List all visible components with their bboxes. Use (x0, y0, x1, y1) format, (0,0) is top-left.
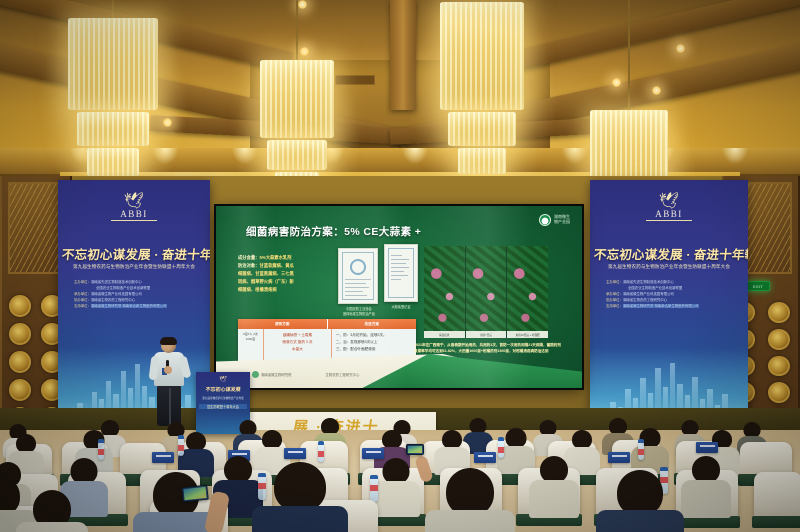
abbi-logo-text: ABBI (111, 209, 157, 219)
leaf-icon (252, 371, 259, 378)
bullet-label: 成分含量： (238, 255, 259, 260)
org-value: 湖南省微生物产业科技园有限公司 (91, 292, 142, 296)
table-header-cell: 改进方案 (328, 319, 417, 329)
presenter-hand (164, 366, 172, 374)
abbi-logo: 🕊 ABBI (111, 196, 157, 221)
slide-bullet-list: 成分含量：5%大蒜素水乳剂 防治对象：甘蓝软腐病、黄瓜 细菌病、甘蓝黑腐病、三七… (238, 254, 330, 294)
banner-organizers: 主办单位：湖南省先进生物制造技术创新中心 全国农业生物制造产业技术创新联盟 承办… (74, 280, 200, 310)
water-bottle (178, 438, 184, 456)
bullet-value: 细菌病、甘蓝黑腐病、三七黑 (238, 271, 294, 276)
chandelier-cord (628, 0, 630, 110)
ceiling-beam-vertical (390, 0, 416, 110)
chandelier-tier (87, 148, 139, 176)
door-medallion-icon (768, 382, 790, 403)
table-name-card (474, 452, 496, 463)
table-name-card (152, 452, 174, 463)
dove-icon: 🕊 (646, 196, 692, 208)
dove-icon: 🕊 (111, 196, 157, 208)
org-value: 湖南省微生物研究院 湖南新合新生物医药有限公司 (623, 304, 699, 308)
org-key: 支持单位： (606, 304, 623, 308)
slide-footer-logos: 湖南省微生物研究院 生物农药工程研究中心 (252, 371, 359, 378)
person-head (446, 468, 494, 516)
chandelier-tier (448, 112, 516, 146)
podium-highlight: 暨生防联盟十周年大会 (199, 404, 247, 409)
person-torso (681, 480, 731, 518)
chandelier-tier (260, 60, 334, 138)
slide-title: 细菌病害防治方案：5% CE大蒜素 + (246, 224, 421, 239)
phone-screen (408, 446, 422, 453)
smartphone-recording[interactable] (181, 485, 208, 503)
chandelier-cord (296, 0, 298, 60)
water-bottle (498, 440, 504, 458)
banner-subline: 第九届生物农药与生物防治产业年会暨生防联盟十周年大会 (64, 264, 204, 270)
chandelier-tier (458, 148, 506, 174)
org-value: 全国农业生物制造产业技术创新联盟 (628, 286, 682, 290)
ceiling-spotlight (163, 118, 172, 127)
downlight (722, 148, 748, 164)
podium-subline: 第九届生物农药与生物防治产业年会 (199, 396, 247, 400)
chandelier (68, 18, 158, 200)
slide-content: 湖南微生 物产业园 细菌病害防治方案：5% CE大蒜素 + 成分含量：5%大蒜素… (216, 206, 582, 388)
field-photo: 病害症状 (424, 246, 465, 338)
org-value: 湖南省微生物研究院 湖南新合新生物医药有限公司 (91, 304, 167, 308)
org-value: 湖南省生物农药工程研究中心 (623, 298, 667, 302)
abbi-logo-text: ABBI (646, 209, 692, 219)
banner-subline: 第九届生物农药与生物防治产业年会暨生防联盟十周年大会 (596, 264, 742, 270)
field-photo-grid: 病害症状 用药7天后 用药15天后 + 叶面肥 (424, 246, 548, 338)
person-head (540, 456, 568, 483)
audience-chair (754, 472, 800, 520)
conference-hall-photo: EXIT (0, 0, 800, 532)
bullet-value: 细菌病、柑橘溃疡病 (238, 287, 277, 292)
logo-rule (646, 220, 692, 221)
water-bottle (638, 442, 644, 460)
photo-caption: 用药15天后 + 叶面肥 (507, 331, 548, 338)
water-bottle (370, 478, 378, 502)
certificate-caption-2: 大蒜素登记证 (376, 305, 426, 310)
org-value: 湖南省先进生物制造技术创新中心 (623, 280, 674, 284)
certificate-image-2 (384, 244, 418, 302)
chandelier-tier (68, 18, 158, 110)
person-torso (372, 481, 420, 517)
table-header-row: 原有方案 改进方案 (238, 319, 416, 329)
door-carving-icon (8, 182, 64, 274)
door-medallion-icon (768, 356, 790, 377)
person-torso (596, 510, 684, 532)
chandelier-tier (440, 2, 524, 110)
door-medallion-icon (9, 323, 31, 345)
org-value: 湖南省微生物产业科技园有限公司 (623, 292, 674, 296)
chandelier-cord (112, 0, 114, 18)
person-head (224, 456, 252, 483)
org-value: 湖南省生物农药工程研究中心 (91, 298, 135, 302)
downlight (562, 148, 588, 164)
slide-logo-text: 湖南微生 物产业园 (554, 215, 570, 225)
person-torso (16, 522, 88, 532)
ceiling-spotlight (612, 78, 621, 87)
presenter-leg-split (169, 388, 171, 426)
photo-caption: 用药7天后 (466, 331, 507, 338)
org-key: 承办单位： (606, 292, 623, 296)
table-name-card (696, 442, 718, 453)
slide-brand-logo: 湖南微生 物产业园 (539, 214, 570, 226)
water-bottle (258, 476, 266, 500)
smartphone-recording[interactable] (406, 444, 424, 455)
chandelier (440, 2, 524, 196)
person-head (274, 462, 326, 512)
ceiling-vent (335, 75, 375, 85)
org-value: 全国农业生物制造产业技术创新联盟 (96, 286, 150, 290)
table-name-card (284, 448, 306, 459)
banner-headline: 不忘初心谋发展 · 奋进十年攀高峰 (61, 244, 207, 263)
chandelier-tier (77, 112, 149, 146)
person-head (506, 428, 527, 448)
photo-caption: 病害症状 (424, 331, 465, 338)
certificate-text-lines (345, 279, 371, 303)
bullet-value: 甘蓝软腐病、黄瓜 (259, 263, 293, 268)
person-torso (529, 480, 579, 518)
bullet-value: 5%大蒜素水乳剂 (259, 255, 291, 260)
org-key: 主办单位： (606, 280, 623, 284)
bullet-value: 斑病、烟草野火病（广东）新 (238, 279, 294, 284)
org-key: 协办单位： (606, 298, 623, 302)
door-medallion-icon (768, 302, 790, 323)
org-key: 支持单位： (74, 304, 91, 308)
exit-sign-icon: EXIT (746, 281, 770, 291)
water-bottle (318, 444, 324, 462)
org-key: 协办单位： (74, 298, 91, 302)
field-photo: 用药15天后 + 叶面肥 (507, 246, 548, 338)
downlight (232, 148, 258, 164)
chandelier-tier (267, 140, 327, 170)
org-value: 湖南省先进生物制造技术创新中心 (91, 280, 142, 284)
person-torso (252, 506, 348, 532)
presenter-speaker (148, 338, 190, 430)
org-key: 承办单位： (74, 292, 91, 296)
certificate-text-lines (391, 255, 411, 283)
abbi-logo: 🕊 ABBI (646, 196, 692, 221)
door-medallion-icon (9, 351, 31, 373)
door-medallion-icon (9, 379, 31, 401)
exit-sign-label: EXIT (753, 284, 763, 289)
field-photo: 用药7天后 (466, 246, 507, 338)
person-head (692, 456, 720, 483)
banner-headline: 不忘初心谋发展 · 奋进十年攀高峰 (593, 244, 745, 263)
certificate-image-1 (338, 248, 378, 304)
ceiling-spotlight (298, 0, 307, 9)
door-medallion-icon (9, 295, 31, 317)
official-seal-icon (350, 259, 366, 275)
ceiling-spotlight (652, 86, 661, 95)
banner-organizers: 主办单位：湖南省先进生物制造技术创新中心 全国农业生物制造产业技术创新联盟 承办… (606, 280, 738, 310)
event-banner-right: 🕊 ABBI 不忘初心谋发展 · 奋进十年攀高峰 第九届生物农药与生物防治产业年… (590, 180, 748, 430)
logo-rule (111, 220, 157, 221)
table-name-card (362, 448, 384, 459)
podium-headline: 不忘初心谋发展 (199, 386, 248, 393)
table-header-cell: 原有方案 (238, 319, 328, 329)
ceiling-spotlight (300, 47, 309, 56)
org-key: 主办单位： (74, 280, 91, 284)
footer-logo: 湖南省微生物研究院 (252, 371, 292, 378)
downlight (402, 148, 428, 164)
phone-screen (183, 487, 206, 500)
water-bottle (98, 442, 104, 460)
bullet-label: 防治对象： (238, 263, 259, 268)
ceiling-spotlight (676, 44, 685, 53)
person-torso (425, 510, 515, 532)
leaf-shield-icon (539, 214, 551, 226)
led-presentation-screen: 湖南微生 物产业园 细菌病害防治方案：5% CE大蒜素 + 成分含量：5%大蒜素… (216, 206, 582, 388)
dove-icon: 🕊 (219, 376, 227, 383)
door-medallion-icon (768, 329, 790, 350)
presenter-hair (160, 337, 177, 345)
table-name-card (608, 452, 630, 463)
footer-logo: 生物农药工程研究中心 (326, 372, 360, 377)
